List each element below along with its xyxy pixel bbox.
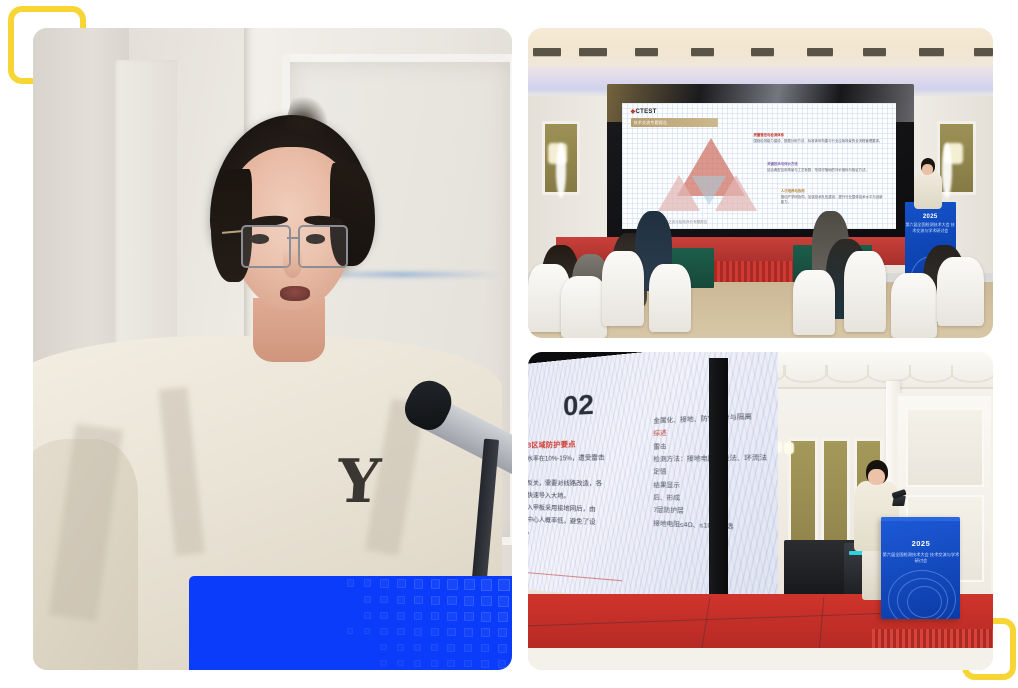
audience-chair [891,273,938,338]
audience-chair [602,251,644,325]
stage-speaker-face [868,469,885,486]
ceiling-vent [691,48,714,55]
glasses-bridge [287,237,299,239]
slide-section-2: 关键技术与评价方法 结合典型应用场景与工艺参数，形成可落地的评价指标与验证方法。 [767,162,884,173]
hall-speaker-body [914,173,943,209]
audience-chair [937,257,984,325]
stage-lectern-line1: 第六届全国检测技术大会 [883,552,929,557]
slide-section-3-body: 推动产学研协同，加强技术队伍建设，提升行业整体技术水平与创新能力。 [781,195,883,204]
slide-body-text: 土壤含水率在10%-15%，遭受雷击后， 会雷电反关，需要对线路改造，各 雷电流… [528,452,617,544]
stage-view-photo: 02 PZOB区域防护要点 土壤含水率在10%-15%，遭受雷击后， 会雷电反关… [528,352,993,670]
ceiling-vent [533,48,561,55]
audience-chair [649,264,691,332]
conference-hall-photo: ◆CTEST 技术交流专题报告 质量管控与检测体系 围绕检测能力建设、数据分析方… [528,28,993,338]
speaker-mouth [280,286,311,301]
ceiling-vent [974,48,993,55]
ceiling-vent [579,48,607,55]
slide-body-line: 会雷电反关，需要对线路改造，各 [528,478,617,491]
hall-speaker [912,158,945,208]
slide-title-text: 技术交流专题报告 [631,118,718,126]
collage-canvas: Y [0,0,1018,688]
hall-lectern-year: 2025 [905,213,956,222]
lectern-front-panel [189,576,512,670]
screen-bezel [709,358,728,593]
main-portrait-photo: Y [33,28,512,670]
slide-section-2-body: 结合典型应用场景与工艺参数，形成可落地的评价指标与验证方法。 [767,168,869,172]
ceiling-vent [635,48,658,55]
ceiling-vent [807,48,833,55]
door-panel-upper [906,408,984,487]
stage-room-floor [528,648,993,670]
stage-lectern-text: 2025 第六届全国检测技术大会 技术交流与学术研讨会 [881,538,960,565]
audience-chair [561,276,608,338]
stage-led-screen: 02 PZOB区域防护要点 土壤含水率在10%-15%，遭受雷击后， 会雷电反关… [528,352,778,614]
lectern-dot-pattern [280,576,512,670]
slide-body-line: 土壤含水率在10%-15%，遭受雷击后， [528,452,617,478]
ceiling-vent [919,48,945,55]
presentation-slide: ◆CTEST 技术交流专题报告 质量管控与检测体系 围绕检测能力建设、数据分析方… [622,103,895,229]
slide-section-number: 02 [563,388,594,423]
slide-logo: ◆CTEST [631,108,657,115]
molding-swag [909,365,953,383]
hall-lectern-line1: 第六届全国检测技术大会 [906,222,950,227]
ceiling-vent [751,48,774,55]
stage-lectern-year: 2025 [881,538,960,550]
ceiling-vent [863,48,886,55]
speaker-nose [283,249,302,277]
audience-chair [844,251,886,332]
slide-section-2-heading: 关键技术与评价方法 [767,162,884,167]
molding-swag [951,365,993,383]
slide-section-1-body: 围绕检测能力建设、数据分析方法、标准体系构建与行业应用场景的全流程管理要求。 [753,139,882,143]
sconce-shade-right [784,442,794,454]
shirt-emblem: Y [335,452,378,523]
stage-lectern-top [881,517,960,521]
slide-section-1-heading: 质量管控与检测体系 [753,133,884,138]
stage-lectern: 2025 第六届全国检测技术大会 技术交流与学术研讨会 [881,517,960,619]
slide-section-1: 质量管控与检测体系 围绕检测能力建设、数据分析方法、标准体系构建与行业应用场景的… [753,133,884,144]
slide-triangle-inverted [692,176,726,205]
glasses-lens-right [298,225,348,268]
audience-chair [793,270,835,335]
hall-lectern-text: 2025 第六届全国检测技术大会 技术交流与学术研讨会 [905,213,956,234]
slide-section-3-heading: 人才培养与协同 [781,189,885,194]
slide-heading: PZOB区域防护要点 [528,438,576,450]
slide-section-3: 人才培养与协同 推动产学研协同，加强技术队伍建设，提升行业整体技术水平与创新能力… [781,189,885,205]
slide-title-bar: 技术交流专题报告 [631,118,718,127]
stage-lectern-ring [907,586,942,619]
hall-speaker-face [922,164,933,175]
molding-swag [784,365,828,383]
molding-swag [826,365,870,383]
